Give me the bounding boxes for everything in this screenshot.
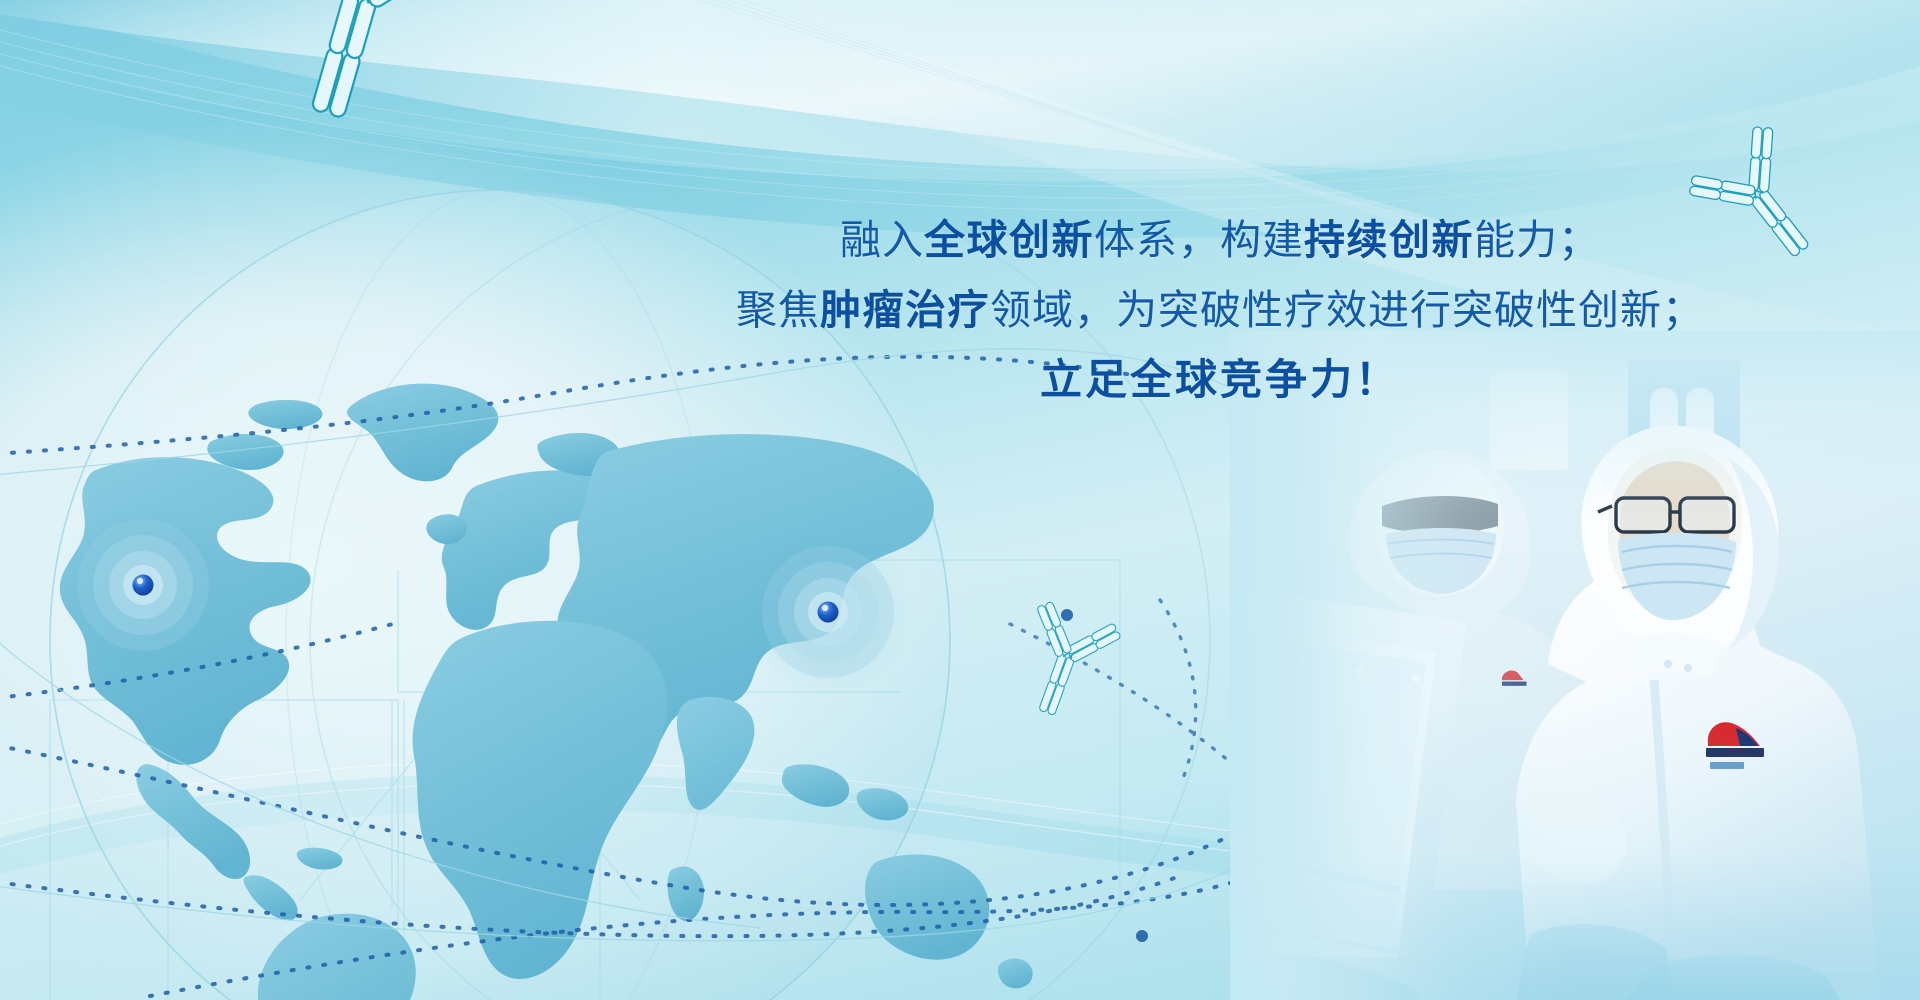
headline-line-2: 聚焦肿瘤治疗领域，为突破性疗效进行突破性创新； (640, 275, 1800, 345)
headline-seg: 融入 (840, 217, 924, 263)
antibody-icon-bottom-center (1004, 596, 1125, 728)
globe-marker-asia (742, 526, 914, 698)
banner-root: 融入全球创新体系，构建持续创新能力； 聚焦肿瘤治疗领域，为突破性疗效进行突破性创… (0, 0, 1920, 1000)
globe-marker-north-america (57, 499, 229, 671)
cleanroom-scientists-photo (1230, 330, 1920, 1000)
page-title: 融入全球创新体系，构建持续创新能力； 聚焦肿瘤治疗领域，为突破性疗效进行突破性创… (640, 205, 1800, 415)
headline-seg: 体系，构建 (1094, 217, 1304, 263)
headline-seg-bold: 全球创新 (924, 217, 1094, 263)
headline-seg: 能力； (1474, 217, 1600, 263)
headline-line-1: 融入全球创新体系，构建持续创新能力； (640, 205, 1800, 275)
headline-seg-bold: 持续创新 (1304, 217, 1474, 263)
headline-seg: 聚焦 (736, 287, 820, 333)
headline-seg-bold: 肿瘤治疗 (820, 287, 990, 333)
headline-line-3: 立足全球竞争力！ (640, 345, 1800, 415)
photo-fade-overlay (1230, 330, 1920, 1000)
antibody-icon-top-left (239, 0, 473, 139)
headline-seg: 领域，为突破性疗效进行突破性创新； (990, 287, 1704, 333)
